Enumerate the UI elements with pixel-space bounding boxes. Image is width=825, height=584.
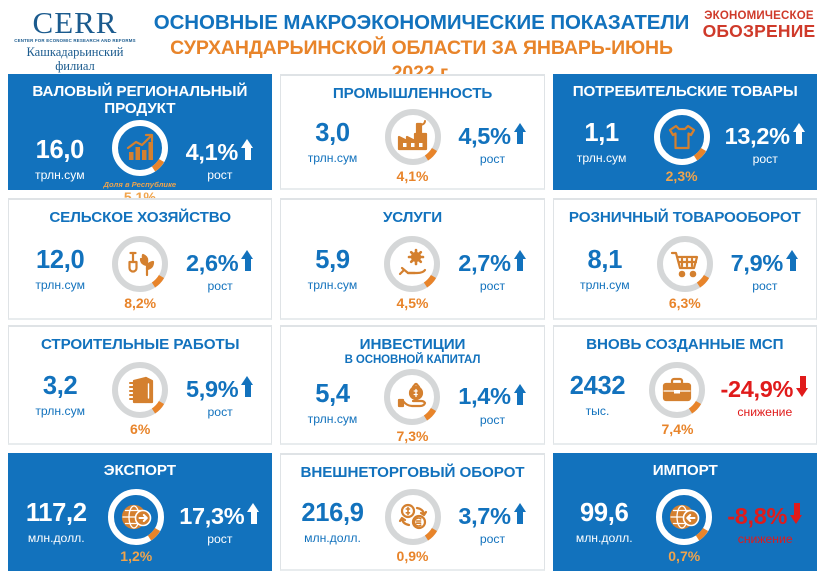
card-body: 3,0трлн.сум4,1%4,5%рост: [281, 103, 545, 188]
indicator-card-new-sme: ВНОВЬ СОЗДАННЫЕ МСП2432тыс.7,4%-24,9%сни…: [553, 325, 817, 445]
arrow-down-icon: [790, 503, 803, 529]
page-title-line1: ОСНОВНЫЕ МАКРОЭКОНОМИЧЕСКИЕ ПОКАЗАТЕЛИ: [150, 10, 693, 36]
growth-value: 4,1%: [186, 140, 238, 165]
card-value: 16,0: [36, 137, 84, 164]
indicator-card-construction: СТРОИТЕЛЬНЫЕ РАБОТЫ3,2трлн.сум6%5,9%рост: [8, 325, 272, 445]
share-donut-ring: [105, 486, 167, 548]
growth-label: рост: [753, 152, 778, 166]
page-header: CERR CENTER FOR ECONOMIC RESEARCH AND RE…: [0, 0, 825, 72]
share-donut-ring: [381, 366, 443, 428]
factory-icon: [393, 117, 433, 157]
briefcase-icon: [657, 370, 697, 410]
arrow-up-icon: [514, 384, 527, 410]
card-icon-block: 7,4%: [638, 359, 716, 439]
card-growth-block: -8,8%снижение: [727, 503, 803, 548]
card-growth-block: 4,5%рост: [456, 123, 530, 168]
share-value: 6%: [130, 421, 150, 439]
card-body: 5,4трлн.сум7,3%1,4%рост: [281, 366, 543, 446]
growth-value: 1,4%: [458, 384, 510, 409]
arrow-down-icon: [796, 376, 809, 402]
card-growth-block: 13,2%рост: [725, 123, 806, 168]
share-value: 7,3%: [397, 428, 429, 446]
card-body: 8,1трлн.сум6,3%7,9%рост: [554, 227, 816, 318]
card-title: ПОТРЕБИТЕЛЬСКИЕ ТОВАРЫ: [573, 84, 798, 101]
growth-row: 4,1%: [186, 139, 254, 165]
card-body: 3,2трлн.сум6%5,9%рост: [9, 354, 271, 443]
growth-label: рост: [752, 279, 777, 293]
growth-row: 17,3%: [179, 503, 260, 529]
card-icon-block: 6,3%: [646, 233, 724, 313]
indicator-card-consumer-goods: ПОТРЕБИТЕЛЬСКИЕ ТОВАРЫ1,1трлн.сум2,3%13,…: [553, 74, 817, 190]
card-body: 16,0трлн.сумДоля в Республике5,1%4,1%рос…: [8, 117, 272, 206]
card-growth-block: 2,7%рост: [455, 250, 529, 295]
share-value: 6,3%: [669, 295, 701, 313]
card-unit: трлн.сум: [580, 276, 630, 296]
card-value: 3,0: [315, 120, 350, 147]
growth-label: рост: [480, 279, 505, 293]
growth-row: 5,9%: [186, 376, 254, 402]
card-body: 5,9трлн.сум4,5%2,7%рост: [281, 227, 543, 318]
card-title: ВНЕШНЕТОРГОВЫЙ ОБОРОТ: [301, 465, 525, 482]
card-title: ВНОВЬ СОЗДАННЫЕ МСП: [586, 337, 783, 354]
growth-label: рост: [480, 413, 505, 427]
card-title: СЕЛЬСКОЕ ХОЗЯЙСТВО: [49, 210, 231, 227]
card-value-block: 8,1трлн.сум: [568, 247, 642, 297]
growth-value: 7,9%: [731, 251, 783, 276]
growth-value: 17,3%: [179, 504, 244, 529]
card-value: 2432: [570, 373, 626, 400]
arrow-up-icon: [514, 123, 527, 149]
share-donut-ring: [654, 233, 716, 295]
card-unit: млн.долл.: [28, 529, 85, 549]
card-value: 5,9: [315, 247, 350, 274]
card-value-block: 16,0трлн.сум: [23, 137, 97, 187]
card-value-block: 5,9трлн.сум: [295, 247, 369, 297]
card-body: 1,1трлн.сум2,3%13,2%рост: [553, 101, 817, 190]
growth-value: -24,9%: [720, 377, 793, 402]
arrow-up-icon: [514, 250, 527, 276]
card-title: ПРОМЫШЛЕННОСТЬ: [333, 86, 492, 103]
arrow-up-icon: [241, 139, 254, 165]
card-title: ИНВЕСТИЦИИ: [360, 337, 466, 354]
indicator-card-retail-turnover: РОЗНИЧНЫЙ ТОВАРООБОРОТ8,1трлн.сум6,3%7,9…: [553, 198, 817, 320]
arrow-up-icon: [793, 123, 806, 149]
card-unit: трлн.сум: [35, 402, 85, 422]
card-value-block: 1,1трлн.сум: [565, 120, 639, 170]
card-value-block: 2432тыс.: [560, 373, 634, 423]
card-unit: трлн.сум: [35, 166, 85, 186]
card-value-block: 99,6млн.долл.: [567, 500, 641, 550]
growth-row: 13,2%: [725, 123, 806, 149]
card-value: 8,1: [588, 247, 623, 274]
indicator-row-1: ВАЛОВЫЙ РЕГИОНАЛЬНЫЙ ПРОДУКТ16,0трлн.сум…: [8, 74, 817, 190]
indicator-card-foreign-trade-turnover: ВНЕШНЕТОРГОВЫЙ ОБОРОТ216,9млн.долл.0,9%3…: [280, 453, 546, 571]
share-donut-ring: [382, 106, 444, 168]
card-icon-block: 2,3%: [643, 106, 721, 186]
growth-row: 2,7%: [458, 250, 526, 276]
share-donut-ring: [651, 106, 713, 168]
card-icon-block: 4,5%: [373, 233, 451, 313]
share-donut-ring: [382, 486, 444, 548]
card-value: 99,6: [580, 500, 628, 527]
indicator-row-4: ЭКСПОРТ117,2млн.долл.1,2%17,3%ростВНЕШНЕ…: [8, 453, 817, 571]
indicator-card-investments: ИНВЕСТИЦИИВ ОСНОВНОЙ КАПИТАЛ5,4трлн.сум7…: [280, 325, 544, 445]
bar-chart-growth-icon: [120, 128, 160, 168]
growth-value: -8,8%: [727, 504, 787, 529]
arrow-up-icon: [247, 503, 260, 529]
card-title: ИМПОРТ: [653, 463, 718, 480]
growth-label: снижение: [738, 532, 793, 546]
indicator-card-agriculture: СЕЛЬСКОЕ ХОЗЯЙСТВО12,0трлн.сум8,2%2,6%ро…: [8, 198, 272, 320]
card-value: 1,1: [584, 120, 619, 147]
card-unit: млн.долл.: [304, 529, 361, 549]
growth-label: рост: [208, 279, 233, 293]
card-icon-block: Доля в Республике5,1%: [101, 117, 179, 206]
card-unit: трлн.сум: [577, 149, 627, 169]
card-unit: трлн.сум: [308, 410, 358, 430]
card-icon-block: 1,2%: [97, 486, 175, 566]
indicator-row-3: СТРОИТЕЛЬНЫЕ РАБОТЫ3,2трлн.сум6%5,9%рост…: [8, 325, 817, 445]
card-value: 5,4: [315, 381, 350, 408]
hand-gear-icon: [392, 244, 432, 284]
growth-value: 5,9%: [186, 377, 238, 402]
card-value-block: 12,0трлн.сум: [23, 247, 97, 297]
share-donut-ring: [109, 359, 171, 421]
card-unit: трлн.сум: [308, 149, 358, 169]
share-value: 2,3%: [666, 168, 698, 186]
card-growth-block: -24,9%снижение: [720, 376, 809, 421]
share-caption: Доля в Республике: [104, 181, 177, 189]
card-value: 216,9: [301, 500, 363, 527]
growth-label: рост: [480, 152, 505, 166]
globe-arrow-out-icon: [116, 497, 156, 537]
card-title: СТРОИТЕЛЬНЫЕ РАБОТЫ: [41, 337, 239, 354]
card-value-block: 3,2трлн.сум: [23, 373, 97, 423]
arrow-up-icon: [786, 250, 799, 276]
card-growth-block: 4,1%рост: [183, 139, 257, 184]
share-donut-ring: [381, 233, 443, 295]
hand-money-bag-icon: [392, 377, 432, 417]
growth-row: -24,9%: [720, 376, 809, 402]
card-unit: трлн.сум: [35, 276, 85, 296]
card-growth-block: 3,7%рост: [456, 503, 530, 548]
building-icon: [120, 370, 160, 410]
growth-value: 3,7%: [458, 504, 510, 529]
card-icon-block: 7,3%: [373, 366, 451, 446]
share-value: 7,4%: [662, 421, 694, 439]
growth-row: -8,8%: [727, 503, 803, 529]
growth-row: 2,6%: [186, 250, 254, 276]
logo-subtitle: CENTER FOR ECONOMIC RESEARCH AND REFORMS: [0, 38, 150, 43]
card-icon-block: 8,2%: [101, 233, 179, 313]
indicator-card-import: ИМПОРТ99,6млн.долл.0,7%-8,8%снижение: [553, 453, 817, 571]
arrow-up-icon: [241, 250, 254, 276]
growth-label: рост: [208, 405, 233, 419]
share-donut-ring: [646, 359, 708, 421]
arrow-up-icon: [514, 503, 527, 529]
card-growth-block: 2,6%рост: [183, 250, 257, 295]
growth-row: 1,4%: [458, 384, 526, 410]
logo-branch-line1: Кашкадарьинский: [0, 45, 150, 59]
share-value: 0,7%: [668, 548, 700, 566]
indicator-card-industry: ПРОМЫШЛЕННОСТЬ3,0трлн.сум4,1%4,5%рост: [280, 74, 546, 190]
card-unit: трлн.сум: [308, 276, 358, 296]
growth-value: 2,6%: [186, 251, 238, 276]
arrow-up-icon: [241, 376, 254, 402]
logo-wordmark: CERR: [0, 8, 150, 37]
indicator-card-export: ЭКСПОРТ117,2млн.долл.1,2%17,3%рост: [8, 453, 272, 571]
share-value: 1,2%: [120, 548, 152, 566]
share-value: 0,9%: [397, 548, 429, 566]
card-value: 117,2: [26, 500, 87, 527]
card-value-block: 3,0трлн.сум: [296, 120, 370, 170]
card-value-block: 117,2млн.долл.: [19, 500, 93, 550]
share-value: 4,5%: [397, 295, 429, 313]
growth-row: 4,5%: [458, 123, 526, 149]
card-value: 12,0: [36, 247, 84, 274]
growth-label: рост: [207, 168, 232, 182]
growth-value: 2,7%: [458, 251, 510, 276]
card-title: РОЗНИЧНЫЙ ТОВАРООБОРОТ: [569, 210, 801, 227]
economic-review-badge: ЭКОНОМИЧЕСКОЕ ОБОЗРЕНИЕ: [693, 4, 825, 40]
card-growth-block: 17,3%рост: [179, 503, 260, 548]
tshirt-icon: [662, 117, 702, 157]
card-value: 3,2: [43, 373, 78, 400]
card-growth-block: 5,9%рост: [183, 376, 257, 421]
badge-line2: ОБОЗРЕНИЕ: [693, 22, 825, 40]
share-value: 4,1%: [397, 168, 429, 186]
growth-label: снижение: [737, 405, 792, 419]
growth-label: рост: [480, 532, 505, 546]
card-body: 12,0трлн.сум8,2%2,6%рост: [9, 227, 271, 318]
card-title: ЭКСПОРТ: [104, 463, 176, 480]
card-unit: млн.долл.: [576, 529, 633, 549]
card-growth-block: 7,9%рост: [728, 250, 802, 295]
cerr-logo: CERR CENTER FOR ECONOMIC RESEARCH AND RE…: [0, 4, 150, 74]
card-value-block: 5,4трлн.сум: [295, 381, 369, 431]
card-body: 117,2млн.долл.1,2%17,3%рост: [8, 480, 272, 571]
card-icon-block: 4,1%: [374, 106, 452, 186]
card-subtitle: В ОСНОВНОЙ КАПИТАЛ: [345, 354, 481, 367]
indicator-card-services: УСЛУГИ5,9трлн.сум4,5%2,7%рост: [280, 198, 544, 320]
indicator-row-2: СЕЛЬСКОЕ ХОЗЯЙСТВО12,0трлн.сум8,2%2,6%ро…: [8, 198, 817, 320]
share-donut-ring: [653, 486, 715, 548]
card-value-block: 216,9млн.долл.: [296, 500, 370, 550]
growth-label: рост: [207, 532, 232, 546]
share-donut-ring: [109, 117, 171, 179]
card-icon-block: 0,9%: [374, 486, 452, 566]
card-body: 99,6млн.долл.0,7%-8,8%снижение: [553, 480, 817, 571]
card-unit: тыс.: [586, 402, 610, 422]
card-icon-block: 0,7%: [645, 486, 723, 566]
card-icon-block: 6%: [101, 359, 179, 439]
indicator-card-grp: ВАЛОВЫЙ РЕГИОНАЛЬНЫЙ ПРОДУКТ16,0трлн.сум…: [8, 74, 272, 190]
indicator-grid: ВАЛОВЫЙ РЕГИОНАЛЬНЫЙ ПРОДУКТ16,0трлн.сум…: [0, 74, 825, 571]
shopping-cart-icon: [665, 244, 705, 284]
card-title: ВАЛОВЫЙ РЕГИОНАЛЬНЫЙ ПРОДУКТ: [8, 84, 272, 117]
card-body: 216,9млн.долл.0,9%3,7%рост: [281, 482, 545, 569]
card-body: 2432тыс.7,4%-24,9%снижение: [554, 354, 816, 443]
growth-row: 3,7%: [458, 503, 526, 529]
growth-value: 4,5%: [458, 124, 510, 149]
growth-row: 7,9%: [731, 250, 799, 276]
shovel-plant-icon: [120, 244, 160, 284]
growth-value: 13,2%: [725, 124, 790, 149]
globe-arrow-in-icon: [664, 497, 704, 537]
card-growth-block: 1,4%рост: [455, 384, 529, 429]
currency-exchange-icon: [393, 497, 433, 537]
card-title: УСЛУГИ: [383, 210, 442, 227]
share-value: 8,2%: [124, 295, 156, 313]
share-donut-ring: [109, 233, 171, 295]
logo-branch-line2: филиал: [0, 59, 150, 74]
